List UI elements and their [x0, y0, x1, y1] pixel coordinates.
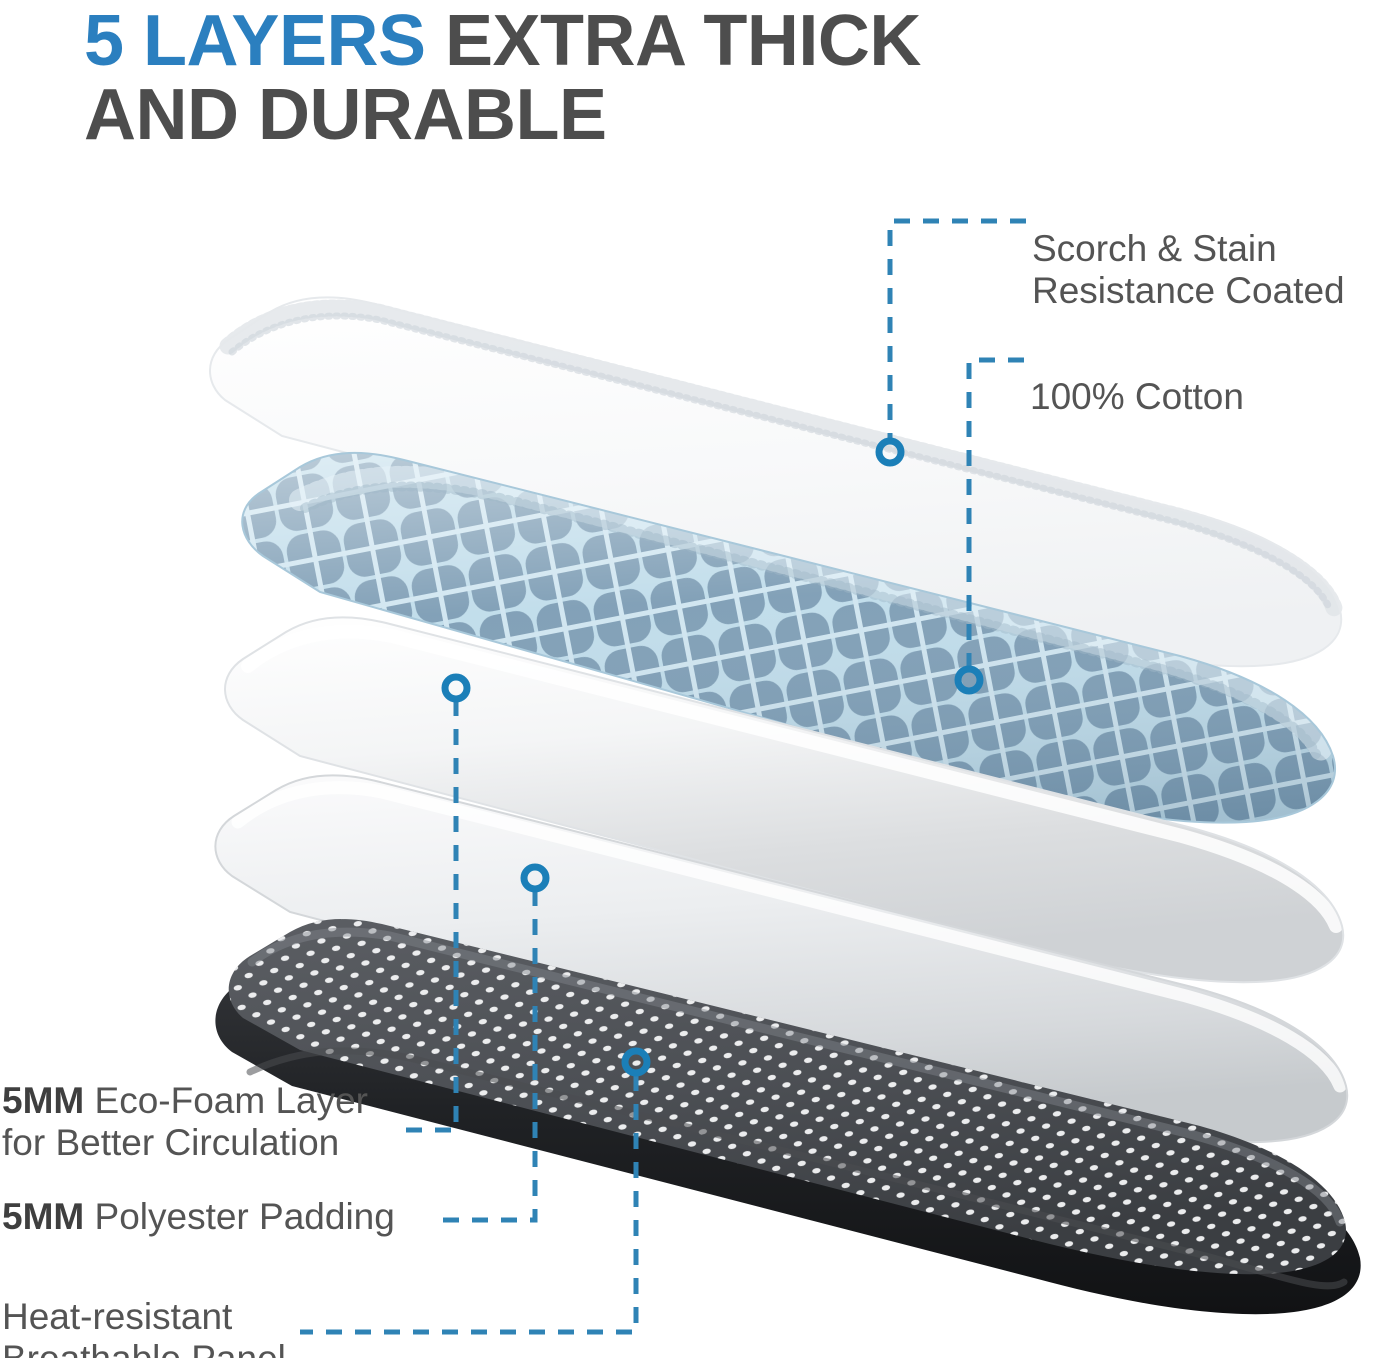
callout-prefix-ecofoam: 5MM — [2, 1080, 84, 1121]
callout-label-cotton: 100% Cotton — [1030, 334, 1360, 418]
callout-label-scorch: Scorch & Stain Resistance Coated — [1032, 186, 1376, 313]
product-infographic: 5 LAYERS EXTRA THICK AND DURABLE — [0, 0, 1376, 1358]
callout-text-scorch: Scorch & Stain Resistance Coated — [1032, 228, 1345, 311]
callout-prefix-polyester: 5MM — [2, 1196, 84, 1237]
callout-text-polyester: Polyester Padding — [84, 1196, 395, 1237]
callout-label-ecofoam: 5MM Eco-Foam Layer for Better Circulatio… — [2, 1080, 432, 1164]
callout-label-polyester: 5MM Polyester Padding — [2, 1196, 452, 1238]
callout-text-cotton: 100% Cotton — [1030, 376, 1244, 417]
callout-text-heat: Heat-resistant Breathable Panel — [2, 1296, 286, 1358]
callout-label-heat: Heat-resistant Breathable Panel — [2, 1254, 332, 1358]
